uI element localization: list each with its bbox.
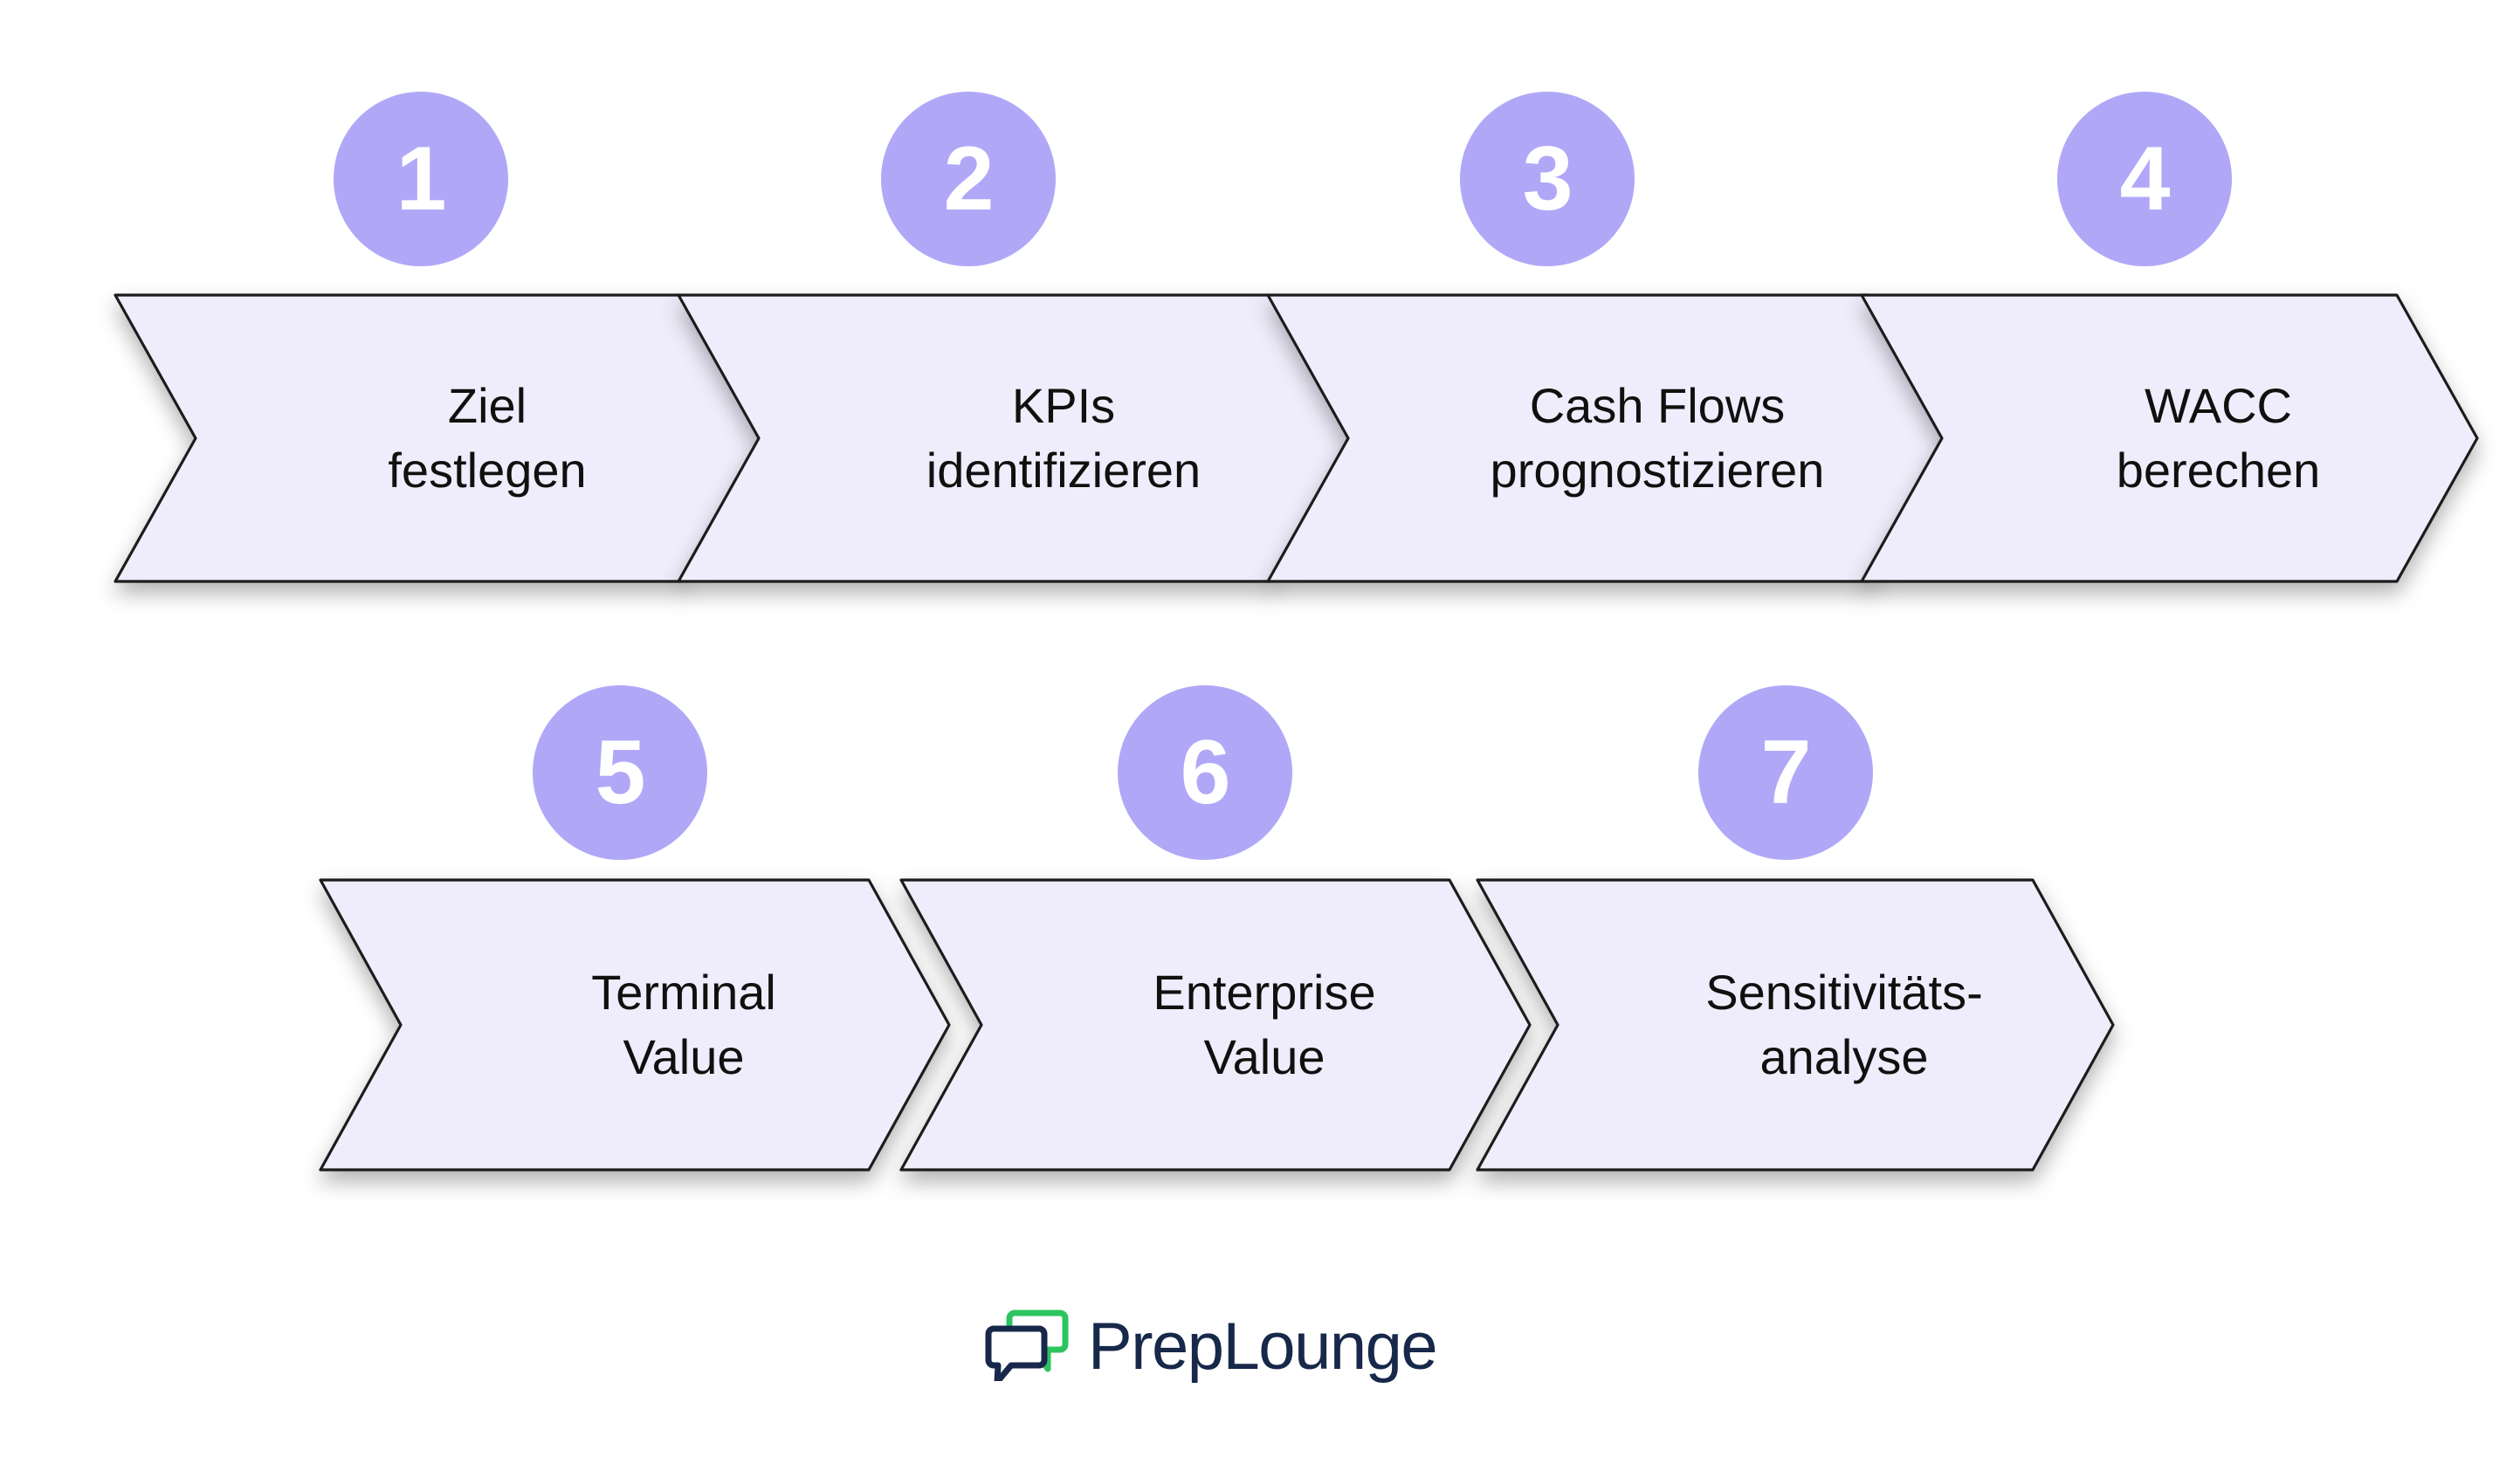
step-number-1: 1 xyxy=(396,134,446,224)
step-badge-3: 3 xyxy=(1460,92,1635,266)
logo-wordmark: PrepLounge xyxy=(1088,1314,1436,1380)
step-chevron-4: WACC berechen xyxy=(1851,288,2484,588)
step-chevron-6: Enterprise Value xyxy=(891,873,1537,1177)
step-chevron-2: KPIs identifizieren xyxy=(668,288,1358,588)
step-badge-2: 2 xyxy=(881,92,1056,266)
step-number-2: 2 xyxy=(944,134,994,224)
diagram-canvas: 1 2 3 4 Ziel festlegen xyxy=(0,0,2520,1471)
speech-bubbles-icon xyxy=(985,1308,1069,1385)
step-number-3: 3 xyxy=(1523,134,1573,224)
step-badge-7: 7 xyxy=(1698,685,1873,860)
step-chevron-5: Terminal Value xyxy=(310,873,956,1177)
step-badge-5: 5 xyxy=(533,685,707,860)
step-badge-1: 1 xyxy=(334,92,508,266)
step-number-4: 4 xyxy=(2120,134,2170,224)
step-number-5: 5 xyxy=(596,727,645,818)
preplounge-logo: PrepLounge xyxy=(985,1308,1436,1385)
step-number-6: 6 xyxy=(1181,727,1230,818)
step-badge-6: 6 xyxy=(1118,685,1292,860)
step-badge-4: 4 xyxy=(2057,92,2232,266)
step-number-7: 7 xyxy=(1761,727,1811,818)
step-chevron-7: Sensitivitäts- analyse xyxy=(1467,873,2120,1177)
